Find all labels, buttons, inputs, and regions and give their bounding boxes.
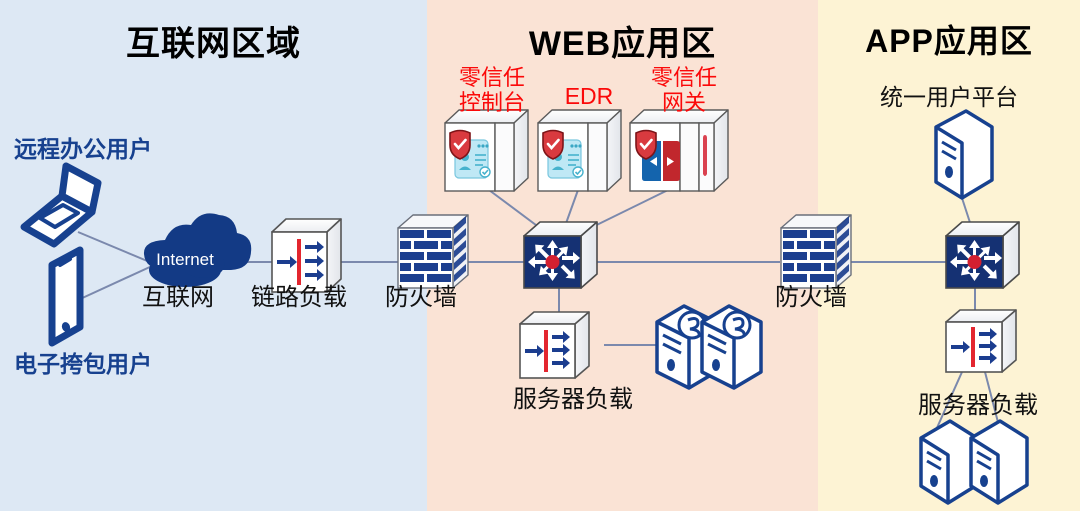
network-diagram: 互联网区域 WEB应用区 APP应用区 远程办公用户 电子挎包用户 Intern… (0, 0, 1080, 511)
cloud-label-internet: Internet (152, 250, 218, 270)
label-remote-office-users: 远程办公用户 (14, 130, 152, 164)
label-firewall-2: 防火墙 (775, 277, 847, 312)
switch-icon (522, 222, 597, 295)
label-zero-trust-gateway-line1: 零信任 (632, 66, 736, 91)
label-zero-trust-console: 零信任 控制台 (440, 66, 544, 115)
label-edr: EDR (547, 84, 631, 110)
label-wallet-users: 电子挎包用户 (14, 345, 152, 379)
load-balancer-icon (520, 312, 589, 378)
server-tower-icon (921, 421, 1027, 503)
label-zero-trust-console-line2: 控制台 (440, 91, 544, 116)
laptop-icon (24, 166, 98, 244)
server-box-icon (445, 110, 528, 191)
server-tower-icon (936, 111, 992, 198)
zone-title-app: APP应用区 (818, 16, 1080, 62)
label-internet: 互联网 (142, 277, 214, 312)
switch-icon (944, 222, 1019, 295)
label-server-load-balancer-web: 服务器负载 (513, 379, 633, 414)
server-box-icon (538, 110, 621, 191)
load-balancer-icon (946, 310, 1016, 372)
label-unified-user-platform: 统一用户平台 (818, 78, 1080, 112)
server-tower-icon (657, 306, 761, 388)
label-zero-trust-console-line1: 零信任 (440, 66, 544, 91)
label-server-load-balancer-app: 服务器负载 (918, 385, 1038, 420)
smartphone-icon (52, 250, 80, 343)
server-box-icon (630, 110, 728, 191)
label-zero-trust-gateway: 零信任 网关 (632, 66, 736, 115)
label-firewall-1: 防火墙 (385, 277, 457, 312)
label-link-load-balancer: 链路负载 (251, 277, 347, 312)
zone-title-web: WEB应用区 (427, 16, 818, 65)
label-zero-trust-gateway-line2: 网关 (632, 91, 736, 116)
zone-title-internet: 互联网区域 (0, 16, 427, 65)
